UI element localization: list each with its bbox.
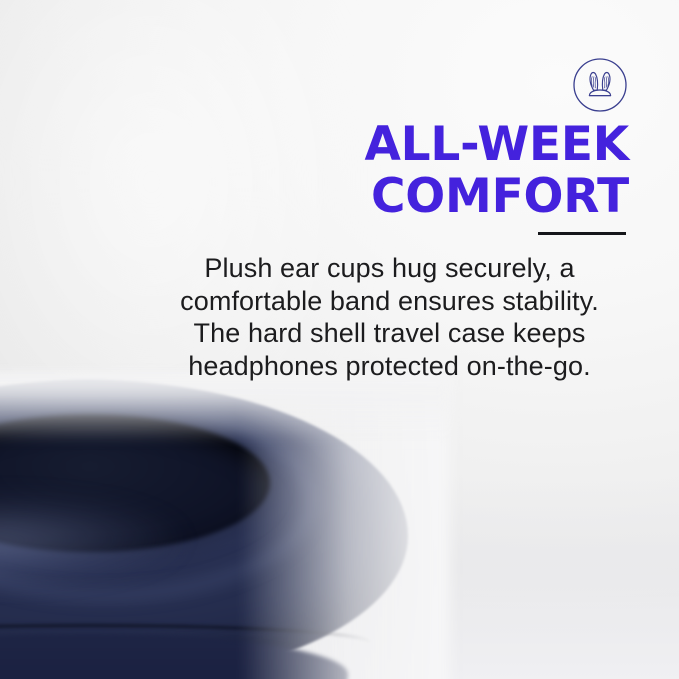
body-copy-line-1: Plush ear cups hug securely, a (150, 252, 629, 285)
headline-line-2: COMFORT (180, 171, 629, 223)
body-copy-line-4: headphones protected on-the-go. (150, 350, 629, 383)
body-copy: Plush ear cups hug securely, a comfortab… (150, 252, 629, 382)
product-feature-card: ALL-WEEK COMFORT Plush ear cups hug secu… (0, 0, 679, 679)
body-copy-line-2: comfortable band ensures stability. (150, 285, 629, 318)
headline: ALL-WEEK COMFORT (180, 119, 629, 223)
divider-rule (538, 232, 626, 235)
bunny-ears-circle-logo-icon (572, 57, 628, 113)
body-copy-line-3: The hard shell travel case keeps (150, 317, 629, 350)
headline-line-1: ALL-WEEK (180, 119, 629, 171)
